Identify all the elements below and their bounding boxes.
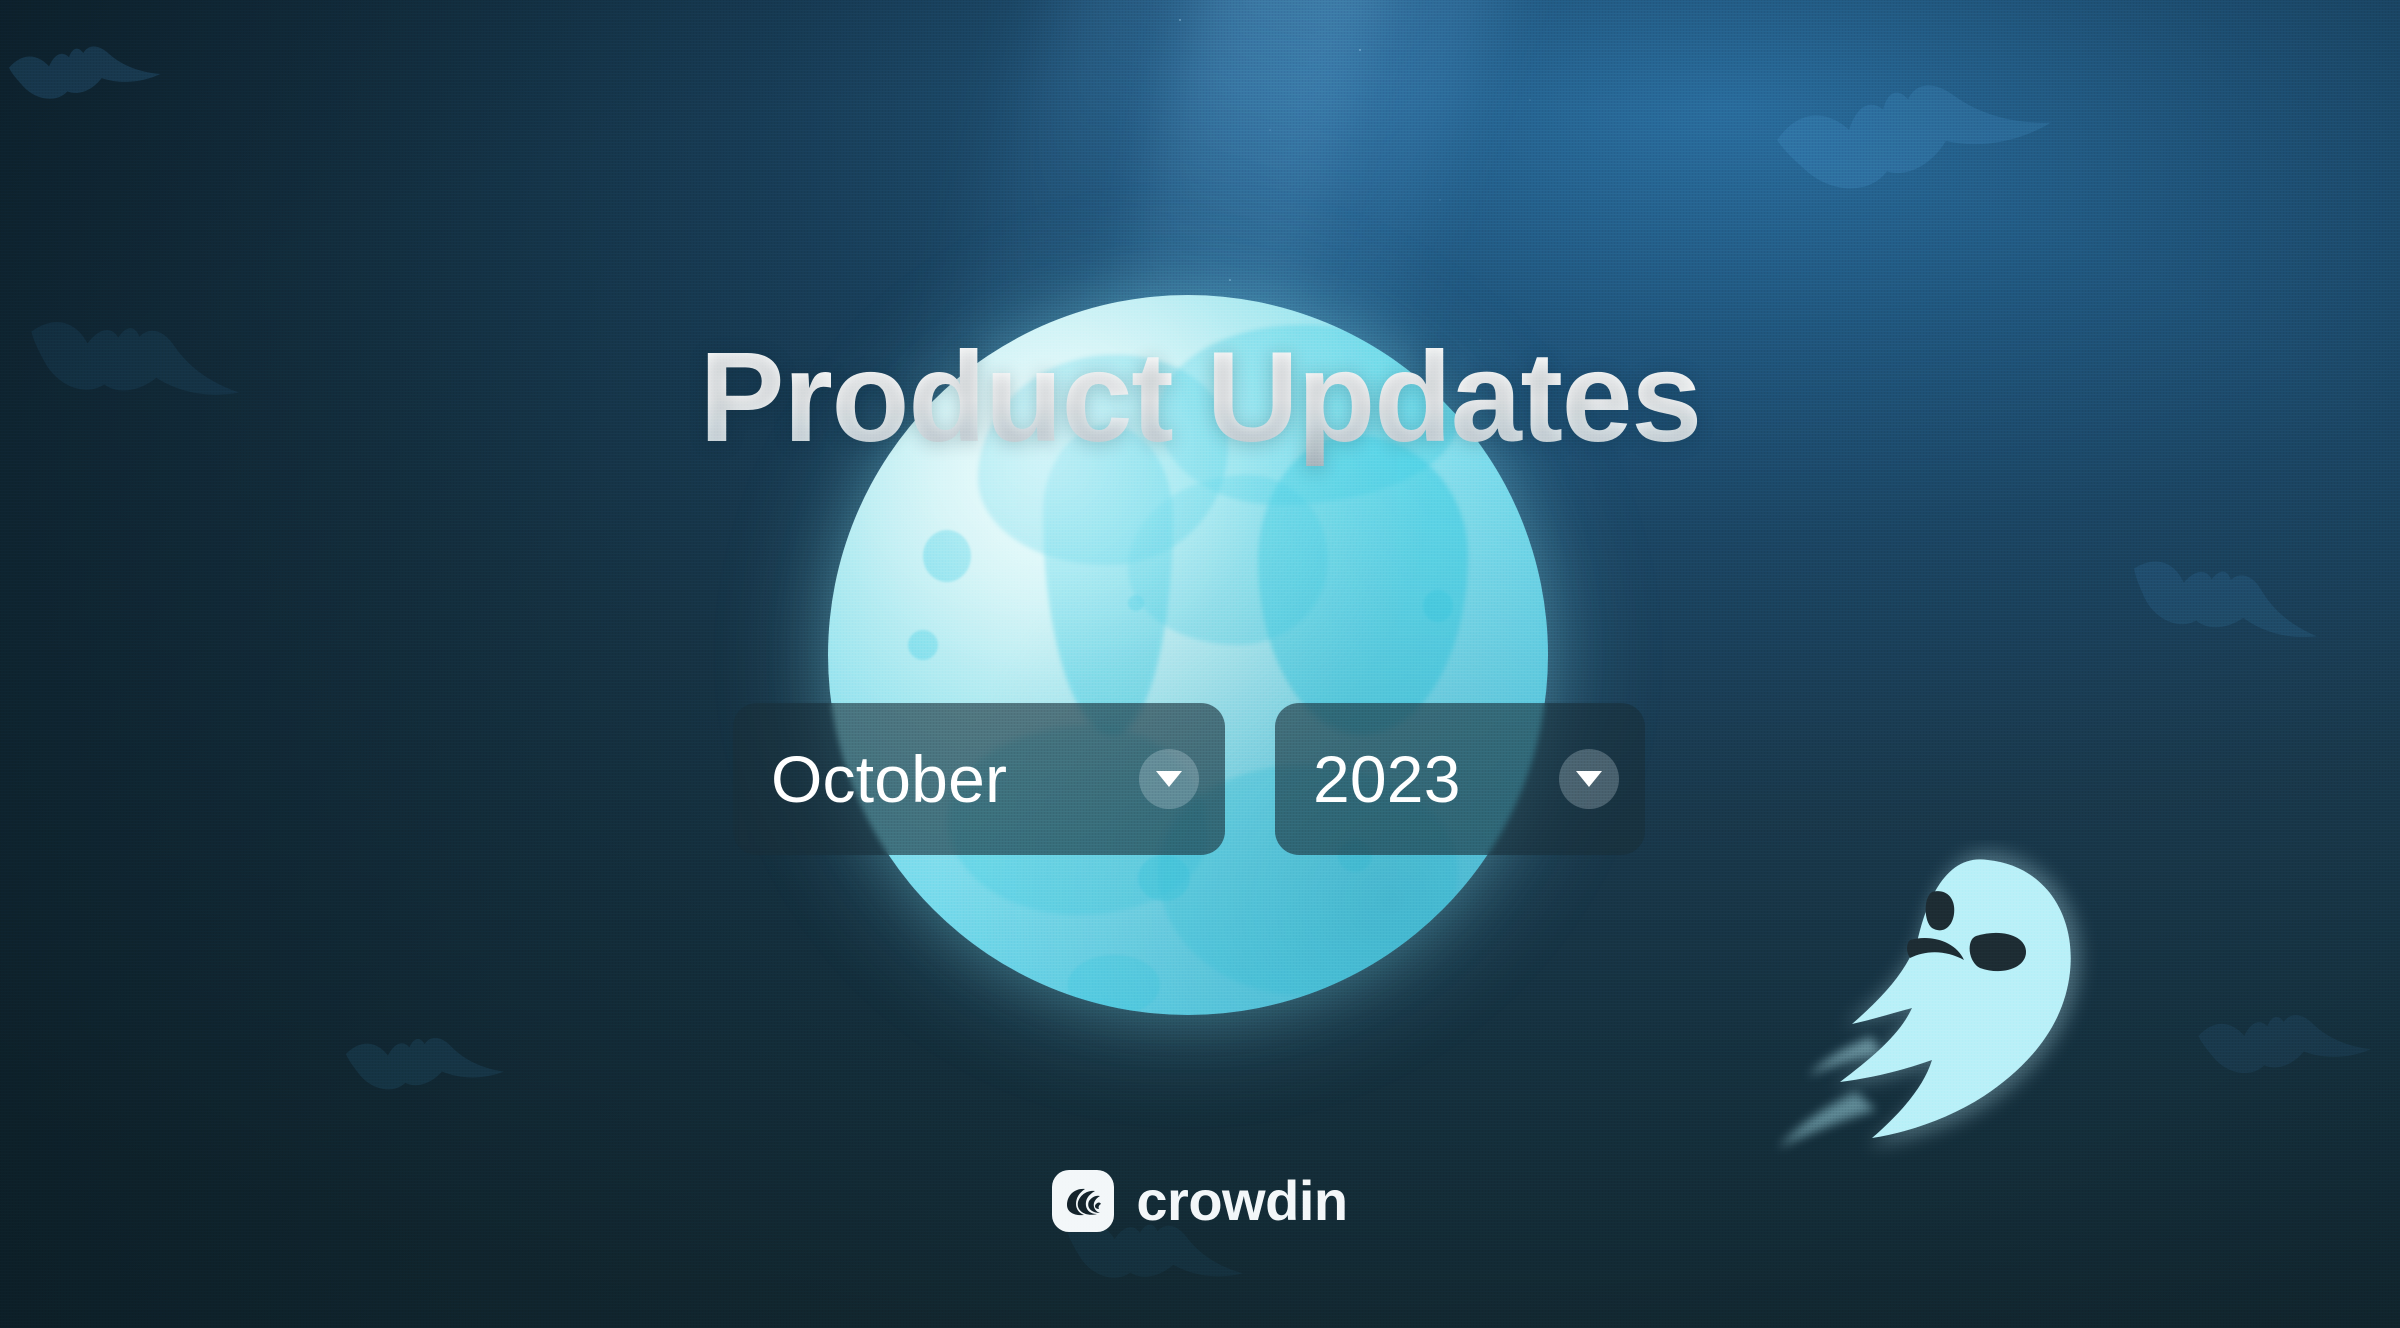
crowdin-logo-icon [1052, 1170, 1114, 1232]
chevron-down-icon[interactable] [1559, 749, 1619, 809]
date-selector-group: October 2023 [733, 703, 1645, 855]
brand-name: crowdin [1136, 1168, 1347, 1233]
brand-logo[interactable]: crowdin [0, 1168, 2400, 1233]
year-value: 2023 [1313, 741, 1537, 817]
year-dropdown[interactable]: 2023 [1275, 703, 1645, 855]
chevron-down-icon[interactable] [1139, 749, 1199, 809]
page-title: Product Updates [0, 330, 2400, 466]
ghost-mascot-icon [1760, 840, 2120, 1170]
month-dropdown[interactable]: October [733, 703, 1225, 855]
hero-banner: Product Updates October 2023 [0, 0, 2400, 1328]
month-value: October [771, 741, 1117, 817]
